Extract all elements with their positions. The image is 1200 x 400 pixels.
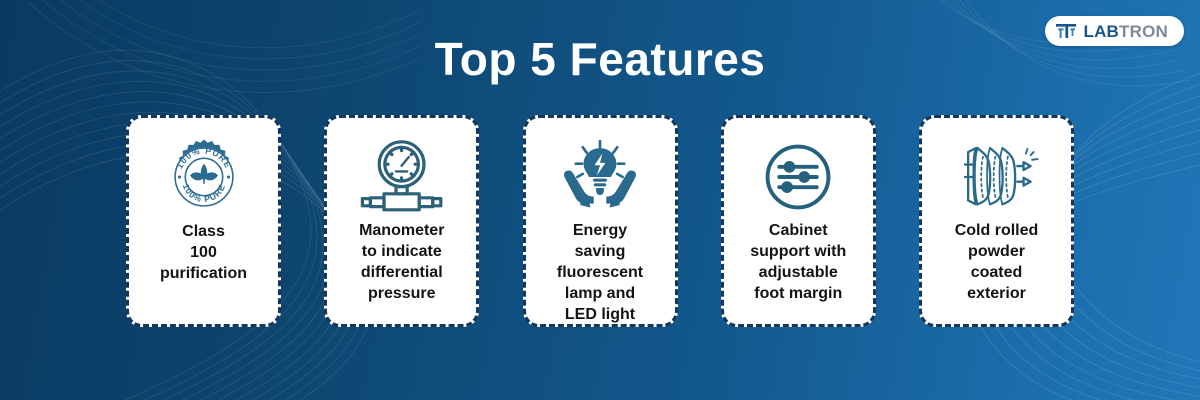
page-title: Top 5 Features <box>0 34 1200 85</box>
feature-card-cabinet-support[interactable]: Cabinet support with adjustable foot mar… <box>721 115 876 327</box>
feature-card-label: Class 100 purification <box>160 221 247 284</box>
layered-coated-sheets-icon <box>954 134 1040 220</box>
feature-card-label: Cold rolled powder coated exterior <box>955 220 1039 304</box>
feature-card-class-100-purification[interactable]: 100% PURE 100% PURE Class 100 purificati… <box>126 115 281 327</box>
feature-banner: LABTRON Top 5 Features <box>0 0 1200 400</box>
manometer-gauge-icon <box>356 134 448 220</box>
feature-card-label: Cabinet support with adjustable foot mar… <box>750 220 846 304</box>
feature-card-energy-saving[interactable]: Energy saving fluorescent lamp and LED l… <box>523 115 678 327</box>
feature-card-manometer[interactable]: Manometer to indicate differential press… <box>324 115 479 327</box>
hands-holding-lightbulb-icon <box>557 134 643 220</box>
feature-card-list: 100% PURE 100% PURE Class 100 purificati… <box>126 115 1074 327</box>
adjustment-sliders-circle-icon <box>759 134 837 220</box>
feature-card-cold-rolled-exterior[interactable]: Cold rolled powder coated exterior <box>919 115 1074 327</box>
feature-card-label: Energy saving fluorescent lamp and LED l… <box>557 220 643 326</box>
feature-card-label: Manometer to indicate differential press… <box>359 220 444 304</box>
purity-seal-badge-icon: 100% PURE 100% PURE <box>165 134 243 220</box>
